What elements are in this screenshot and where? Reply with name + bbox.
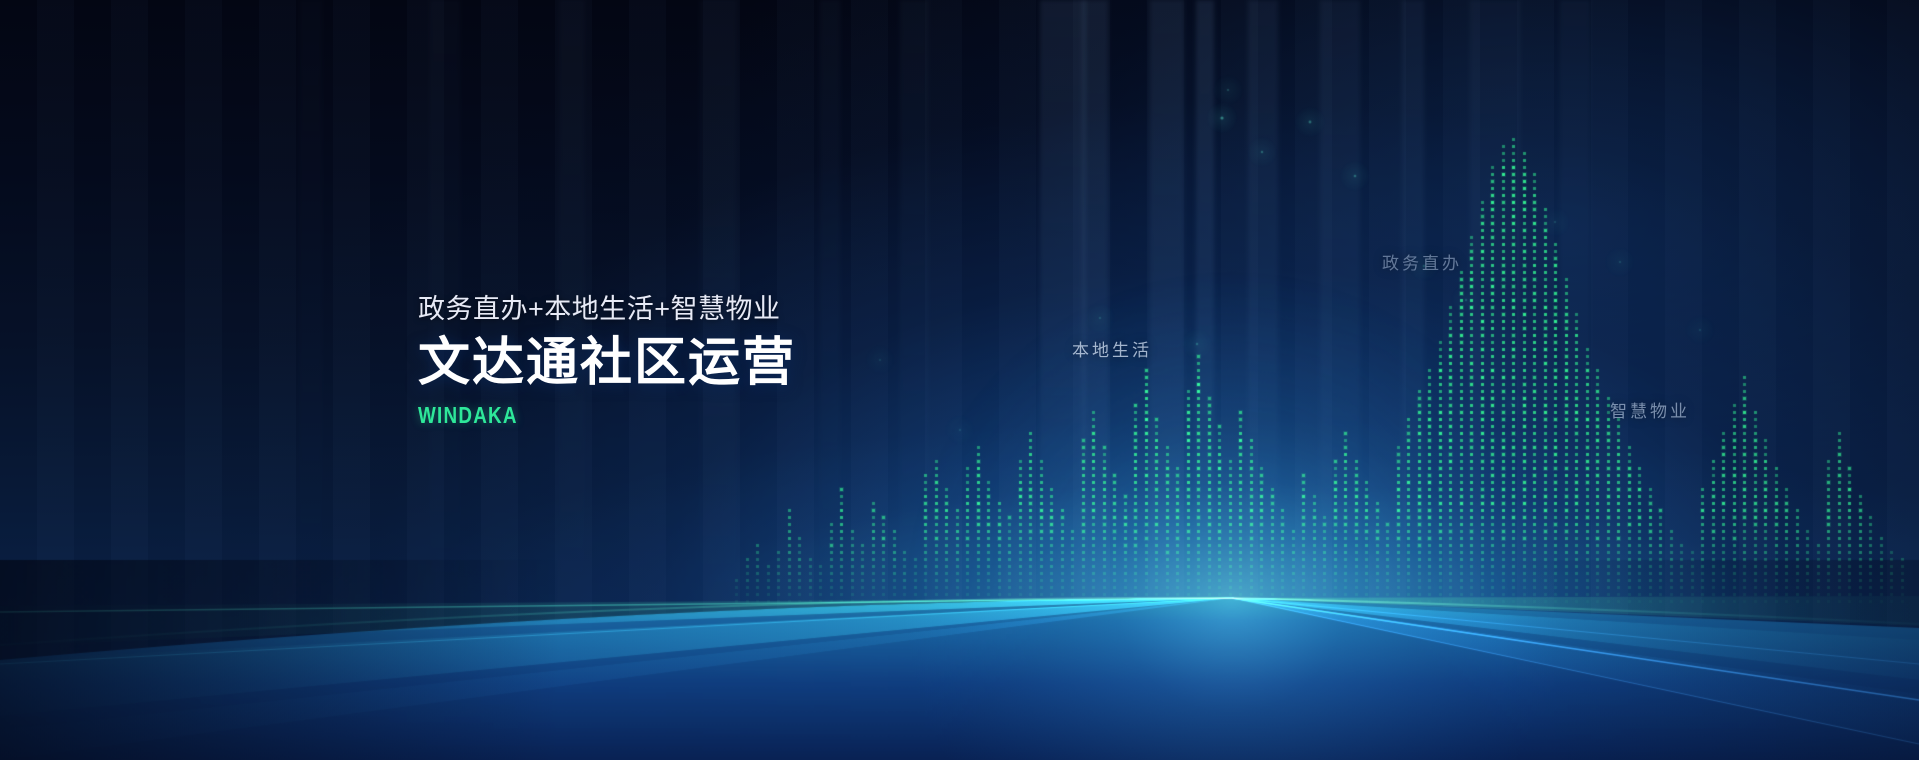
banner-subtitle: 政务直办+本地生活+智慧物业 — [418, 293, 796, 327]
category-label-bendi: 本地生活 — [1072, 336, 1152, 361]
category-label-zhihui: 智慧物业 — [1610, 397, 1690, 422]
category-label-zhengwu: 政务直办 — [1382, 249, 1462, 274]
banner-title: 文达通社区运营 — [418, 334, 796, 392]
perspective-floor — [0, 0, 1919, 760]
brand-wordmark: WINDAKA — [418, 402, 728, 429]
promo-banner: 政务直办 本地生活 智慧物业 政务直办+本地生活+智慧物业 文达通社区运营 WI… — [0, 0, 1919, 760]
headline-block: 政务直办+本地生活+智慧物业 文达通社区运营 WINDAKA — [418, 293, 796, 429]
